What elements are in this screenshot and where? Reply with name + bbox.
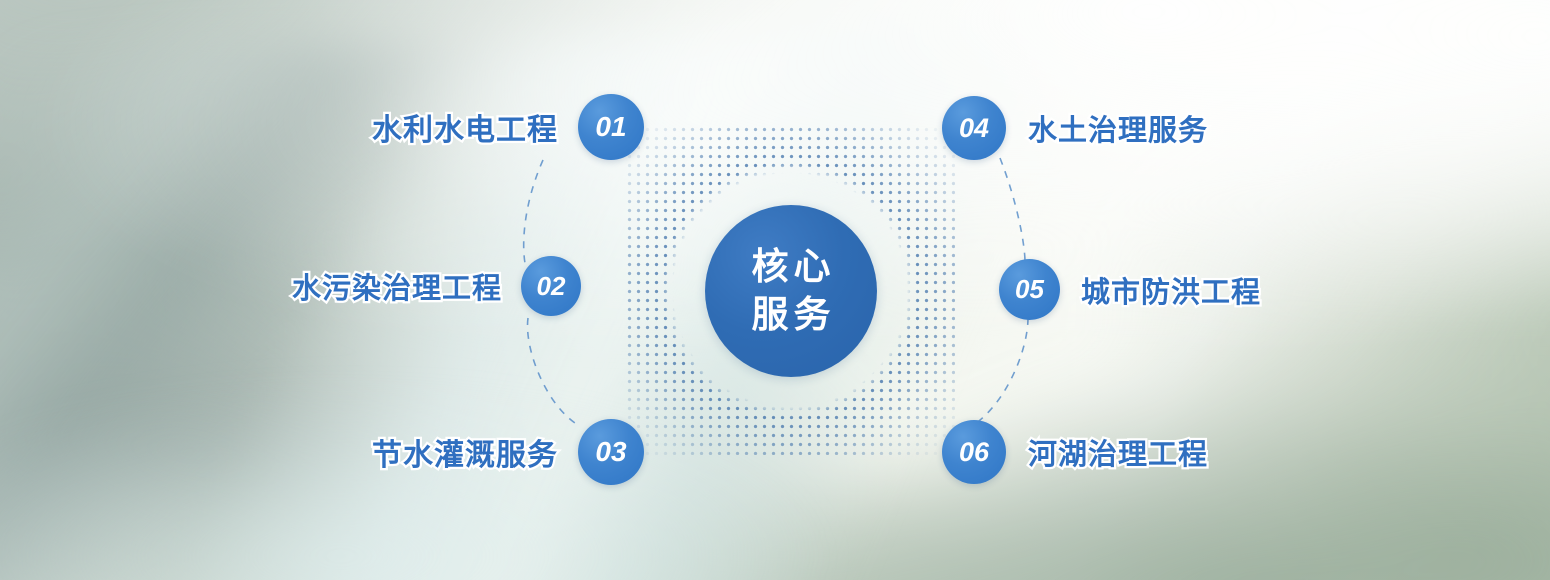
connector-arc-05-06: [972, 318, 1028, 426]
hub-title-line-1: 核心: [747, 243, 836, 291]
service-node-03[interactable]: 节水灌溉服务 03: [372, 419, 644, 485]
service-number-04[interactable]: 04: [942, 96, 1006, 160]
service-label-06: 河湖治理工程: [1028, 431, 1208, 473]
connector-arc-01-02: [524, 160, 543, 268]
core-services-infographic: 核心 服务 水利水电工程 01 水污染治理工程 02 节水灌溉服务 03 04 …: [0, 0, 1550, 580]
service-label-02: 水污染治理工程: [292, 265, 502, 307]
service-number-02[interactable]: 02: [521, 256, 581, 316]
service-label-01: 水利水电工程: [372, 105, 558, 149]
connector-arc-04-05: [1000, 158, 1025, 262]
service-node-06[interactable]: 06 河湖治理工程: [942, 420, 1208, 484]
service-label-05: 城市防洪工程: [1081, 269, 1261, 311]
service-node-05[interactable]: 05 城市防洪工程: [999, 259, 1261, 320]
service-node-01[interactable]: 水利水电工程 01: [372, 94, 644, 160]
service-label-04: 水土治理服务: [1028, 107, 1208, 149]
service-node-02[interactable]: 水污染治理工程 02: [292, 256, 581, 316]
hub-title-line-2: 服务: [747, 291, 836, 339]
service-number-05[interactable]: 05: [999, 259, 1060, 320]
service-number-06[interactable]: 06: [942, 420, 1006, 484]
connector-arc-02-03: [528, 318, 575, 423]
core-services-hub[interactable]: 核心 服务: [705, 205, 877, 377]
service-node-04[interactable]: 04 水土治理服务: [942, 96, 1208, 160]
service-number-01[interactable]: 01: [578, 94, 644, 160]
service-label-03: 节水灌溉服务: [372, 430, 558, 474]
service-number-03[interactable]: 03: [578, 419, 644, 485]
